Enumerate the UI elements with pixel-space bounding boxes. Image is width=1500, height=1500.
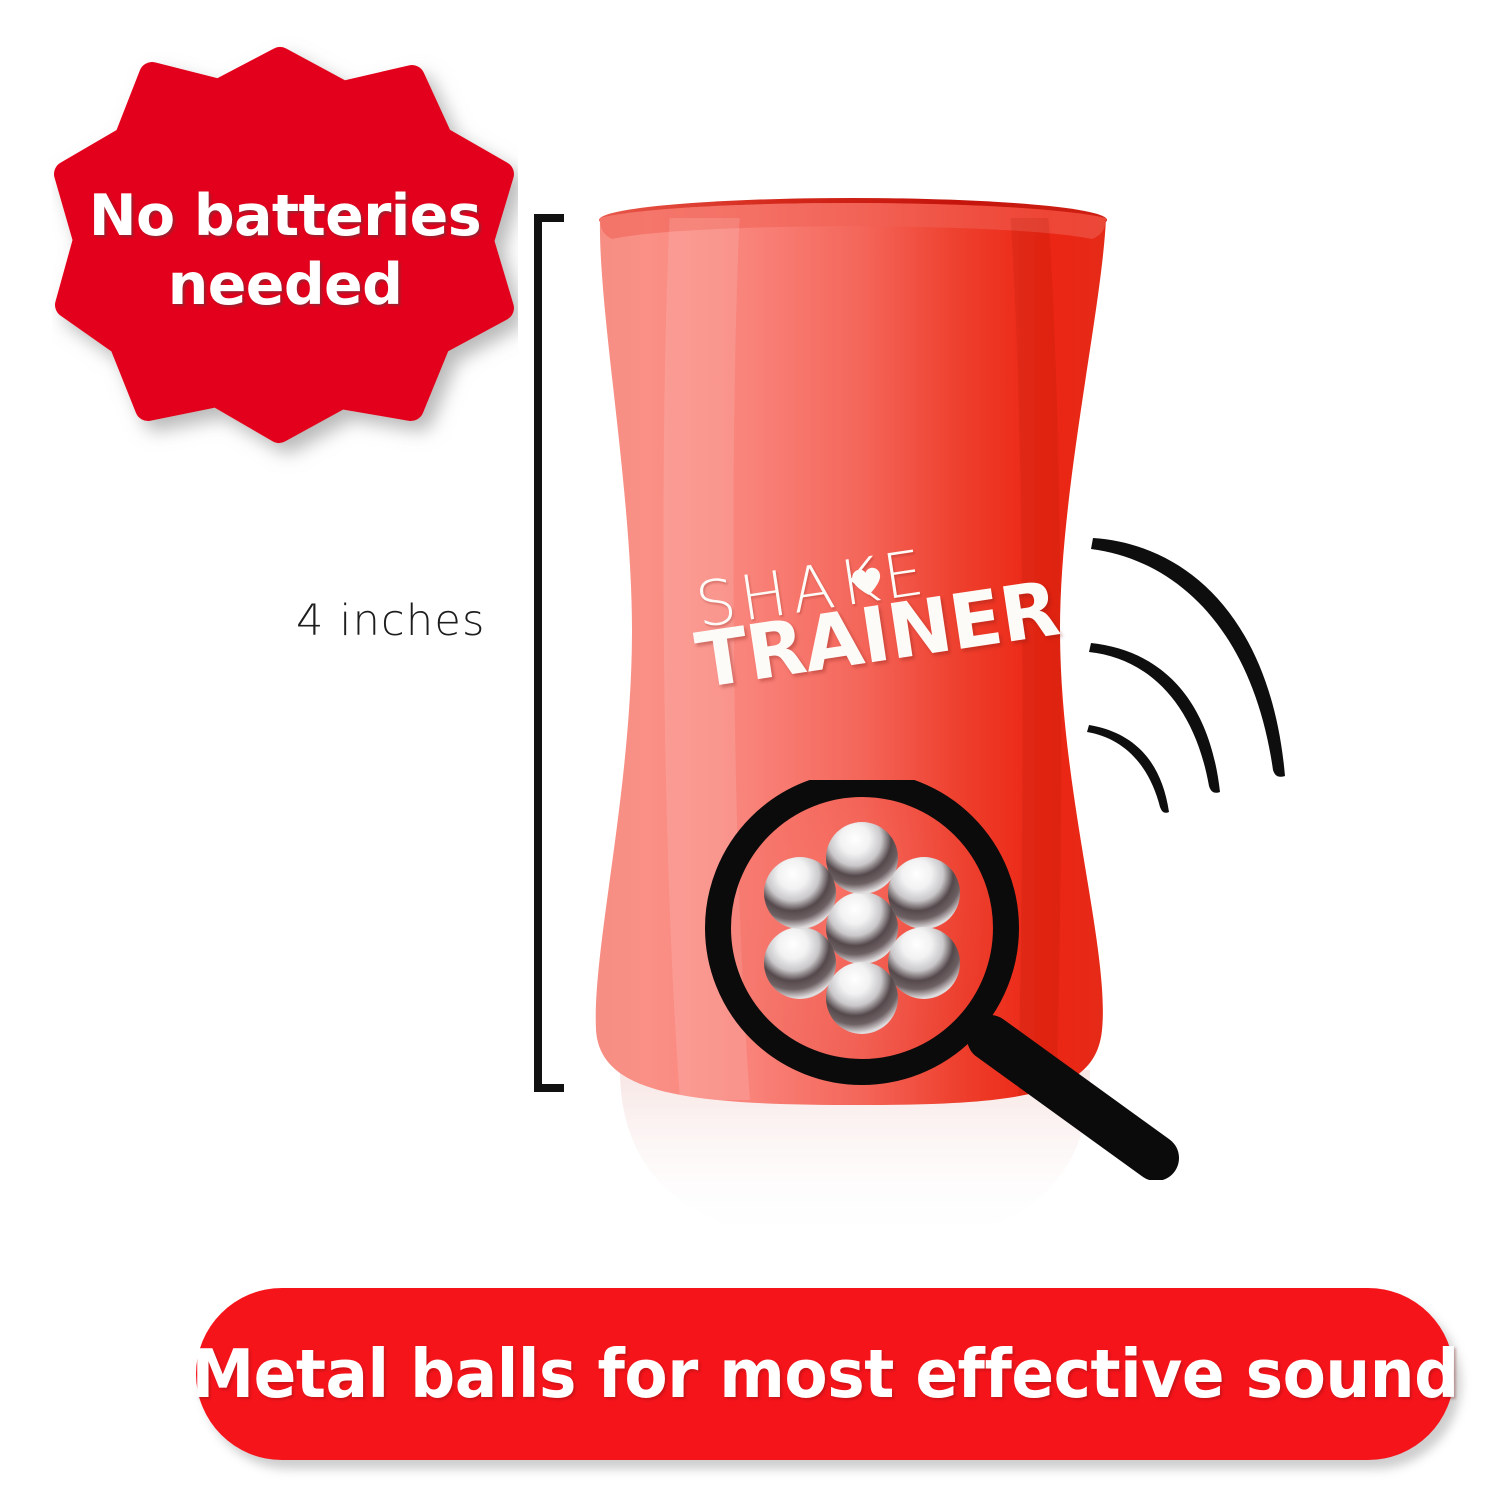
shake-trainer-cup (540, 190, 1180, 1260)
dimension-label: 4 inches (296, 596, 486, 646)
metal-balls-banner: Metal balls for most effective sound (196, 1288, 1454, 1460)
no-batteries-badge: No batteries needed (52, 22, 518, 474)
banner-text: Metal balls for most effective sound (191, 1335, 1458, 1413)
cup-shape (540, 190, 1180, 1260)
starburst-shape-icon (52, 22, 518, 474)
product-feature-image: No batteries needed 4 inches (0, 0, 1500, 1500)
